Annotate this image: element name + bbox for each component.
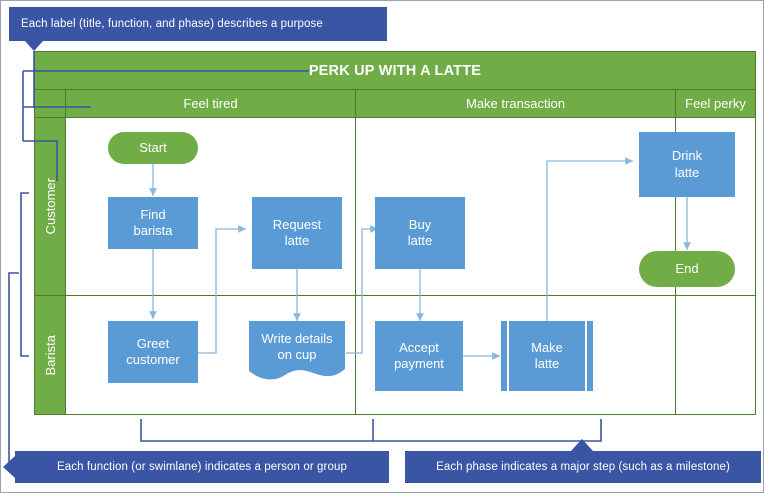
node-request-latte[interactable]: Request latte <box>252 197 342 269</box>
callout-function-note-text: Each function (or swimlane) indicates a … <box>57 461 347 473</box>
phase-header-make-transaction: Make transaction <box>356 90 676 117</box>
callout-function-tail-icon <box>3 456 15 478</box>
node-accept-payment-label: Accept payment <box>394 340 444 373</box>
chart-title: PERK UP WITH A LATTE <box>35 52 755 90</box>
node-buy-latte-label: Buy latte <box>408 217 433 250</box>
node-request-latte-label: Request latte <box>273 217 321 250</box>
diagram-canvas: Each label (title, function, and phase) … <box>0 0 764 493</box>
swimlane-barista-label: Barista <box>43 335 58 375</box>
swimlane-customer-label: Customer <box>43 178 58 234</box>
node-write-details-on-cup[interactable]: Write details on cup <box>249 321 345 383</box>
node-greet-customer-label: Greet customer <box>126 336 179 369</box>
phase-header-corner <box>35 90 66 117</box>
node-make-latte-label: Make latte <box>531 340 563 373</box>
node-end-label: End <box>675 261 698 277</box>
node-greet-customer[interactable]: Greet customer <box>108 321 198 383</box>
leader-swimlane-bracket <box>21 193 29 356</box>
node-find-barista-label: Find barista <box>133 207 172 240</box>
leader-function-callout <box>9 273 19 467</box>
callout-label-note: Each label (title, function, and phase) … <box>9 7 387 41</box>
node-drink-latte-label: Drink latte <box>672 148 702 181</box>
phase-header-row: Feel tired Make transaction Feel perky <box>35 90 755 118</box>
callout-function-note: Each function (or swimlane) indicates a … <box>15 451 389 483</box>
node-start[interactable]: Start <box>108 132 198 164</box>
phase-header-feel-tired: Feel tired <box>66 90 356 117</box>
node-find-barista[interactable]: Find barista <box>108 197 198 249</box>
callout-phase-note-text: Each phase indicates a major step (such … <box>436 461 730 473</box>
swimlane-barista-header: Barista <box>35 296 66 414</box>
node-write-details-on-cup-label: Write details on cup <box>261 331 332 364</box>
node-end[interactable]: End <box>639 251 735 287</box>
callout-label-note-text: Each label (title, function, and phase) … <box>21 18 323 30</box>
leader-phase-bracket <box>141 419 601 441</box>
node-make-latte[interactable]: Make latte <box>501 321 593 391</box>
callout-phase-note: Each phase indicates a major step (such … <box>405 451 761 483</box>
node-drink-latte[interactable]: Drink latte <box>639 132 735 197</box>
phase-header-feel-perky: Feel perky <box>676 90 755 117</box>
callout-phase-tail-icon <box>571 439 593 451</box>
callout-top-tail-icon <box>25 41 43 51</box>
node-accept-payment[interactable]: Accept payment <box>375 321 463 391</box>
swimlane-customer-header: Customer <box>35 118 66 295</box>
cell-barista-feel-perky <box>676 296 755 414</box>
node-start-label: Start <box>139 140 166 156</box>
node-buy-latte[interactable]: Buy latte <box>375 197 465 269</box>
